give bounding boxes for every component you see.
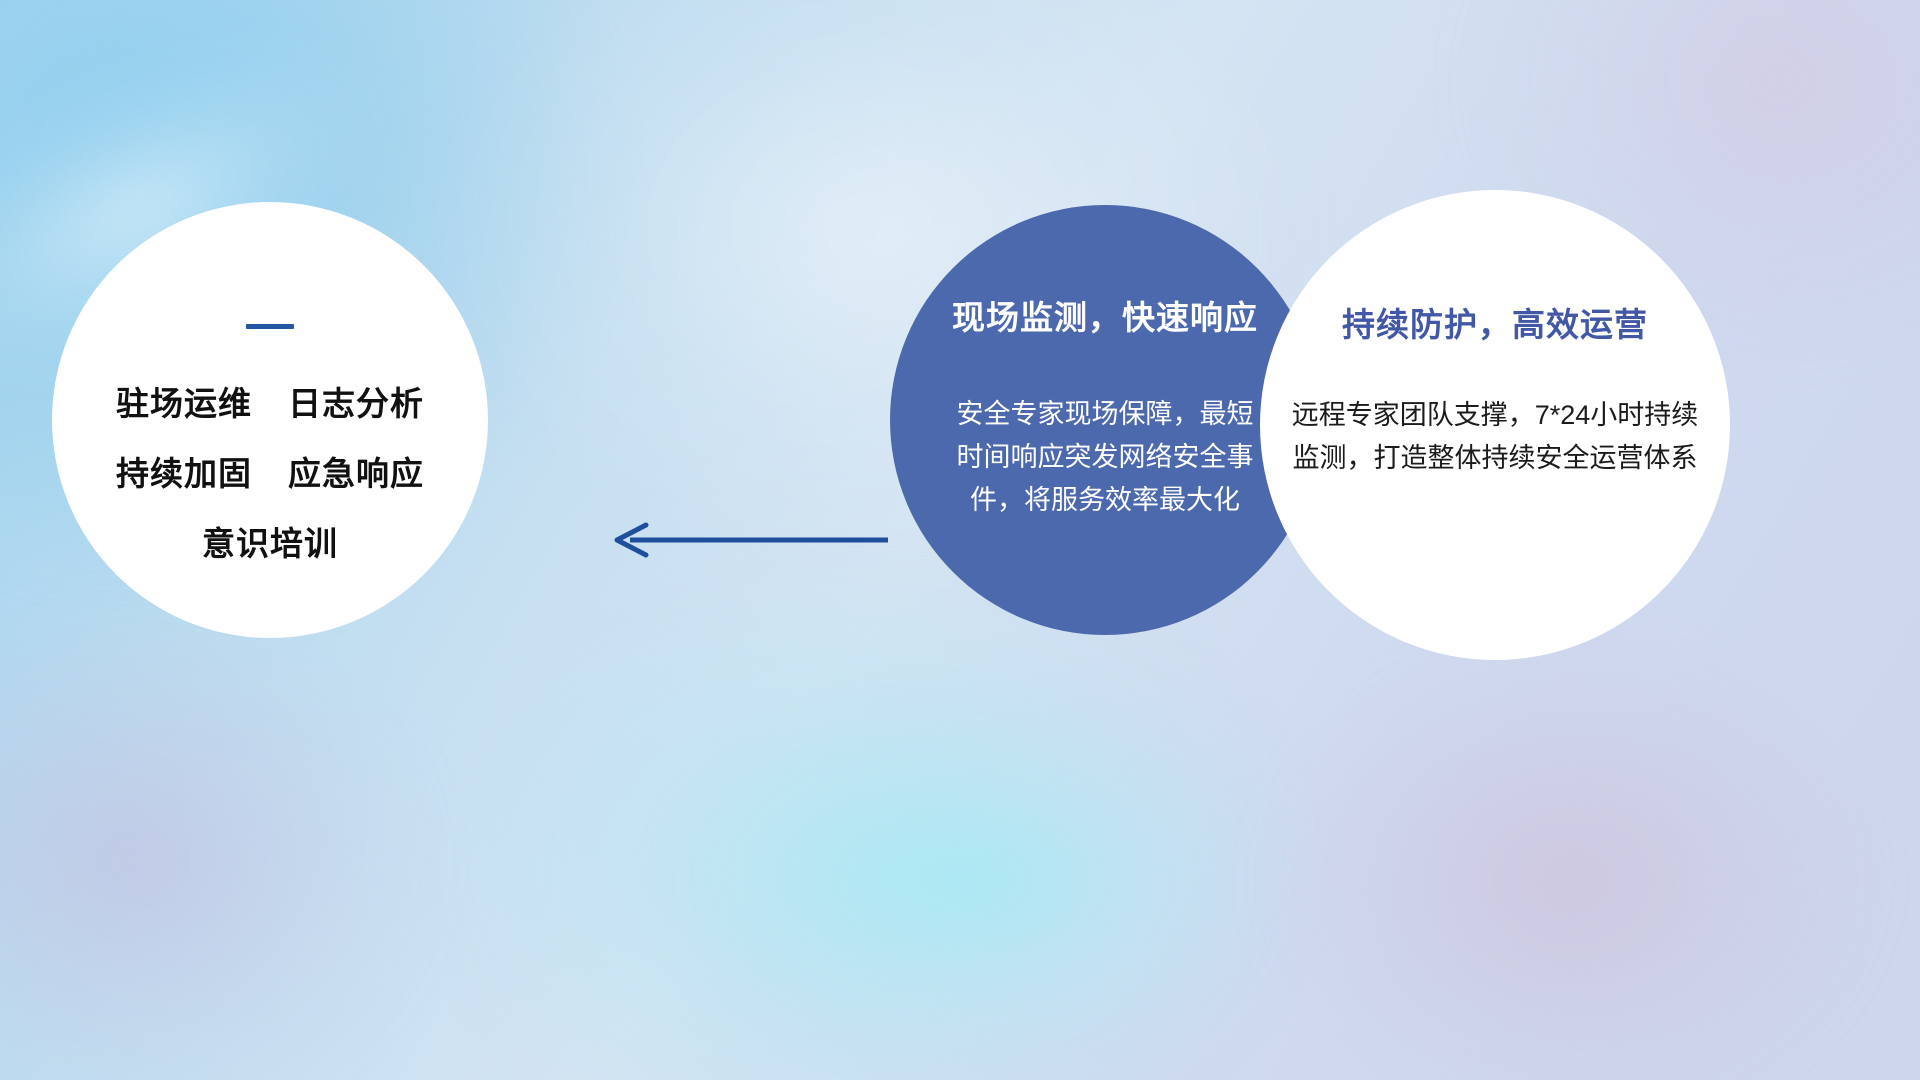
service-keyword-row: 驻场运维 日志分析: [116, 377, 424, 425]
divider-dash-icon: [246, 324, 294, 329]
service-keyword: 驻场运维: [116, 377, 252, 425]
left-circle-content: 驻场运维 日志分析 持续加固 应急响应 意识培训: [52, 202, 488, 638]
middle-circle-content: 现场监测，快速响应 安全专家现场保障，最短时间响应突发网络安全事件，将服务效率最…: [890, 205, 1320, 635]
service-keyword: 持续加固: [116, 447, 252, 495]
service-keyword: 日志分析: [288, 377, 424, 425]
middle-circle-title: 现场监测，快速响应: [952, 291, 1258, 339]
slide-canvas: 驻场运维 日志分析 持续加固 应急响应 意识培训 现场监测，快速响应 安全专家现…: [0, 0, 1920, 1080]
service-keyword-row: 持续加固 应急响应: [116, 447, 424, 495]
service-keyword-list: 驻场运维 日志分析 持续加固 应急响应 意识培训: [116, 377, 424, 565]
right-circle-title: 持续防护，高效运营: [1342, 298, 1648, 346]
middle-circle-body: 安全专家现场保障，最短时间响应突发网络安全事件，将服务效率最大化: [946, 393, 1264, 522]
flow-arrow-left-icon: [600, 520, 890, 560]
service-keyword: 应急响应: [288, 447, 424, 495]
service-keyword-row: 意识培训: [202, 517, 338, 565]
service-keyword: 意识培训: [202, 517, 338, 565]
right-circle-body: 远程专家团队支撑，7*24小时持续监测，打造整体持续安全运营体系: [1285, 394, 1705, 480]
right-circle-content: 持续防护，高效运营 远程专家团队支撑，7*24小时持续监测，打造整体持续安全运营…: [1260, 190, 1730, 660]
